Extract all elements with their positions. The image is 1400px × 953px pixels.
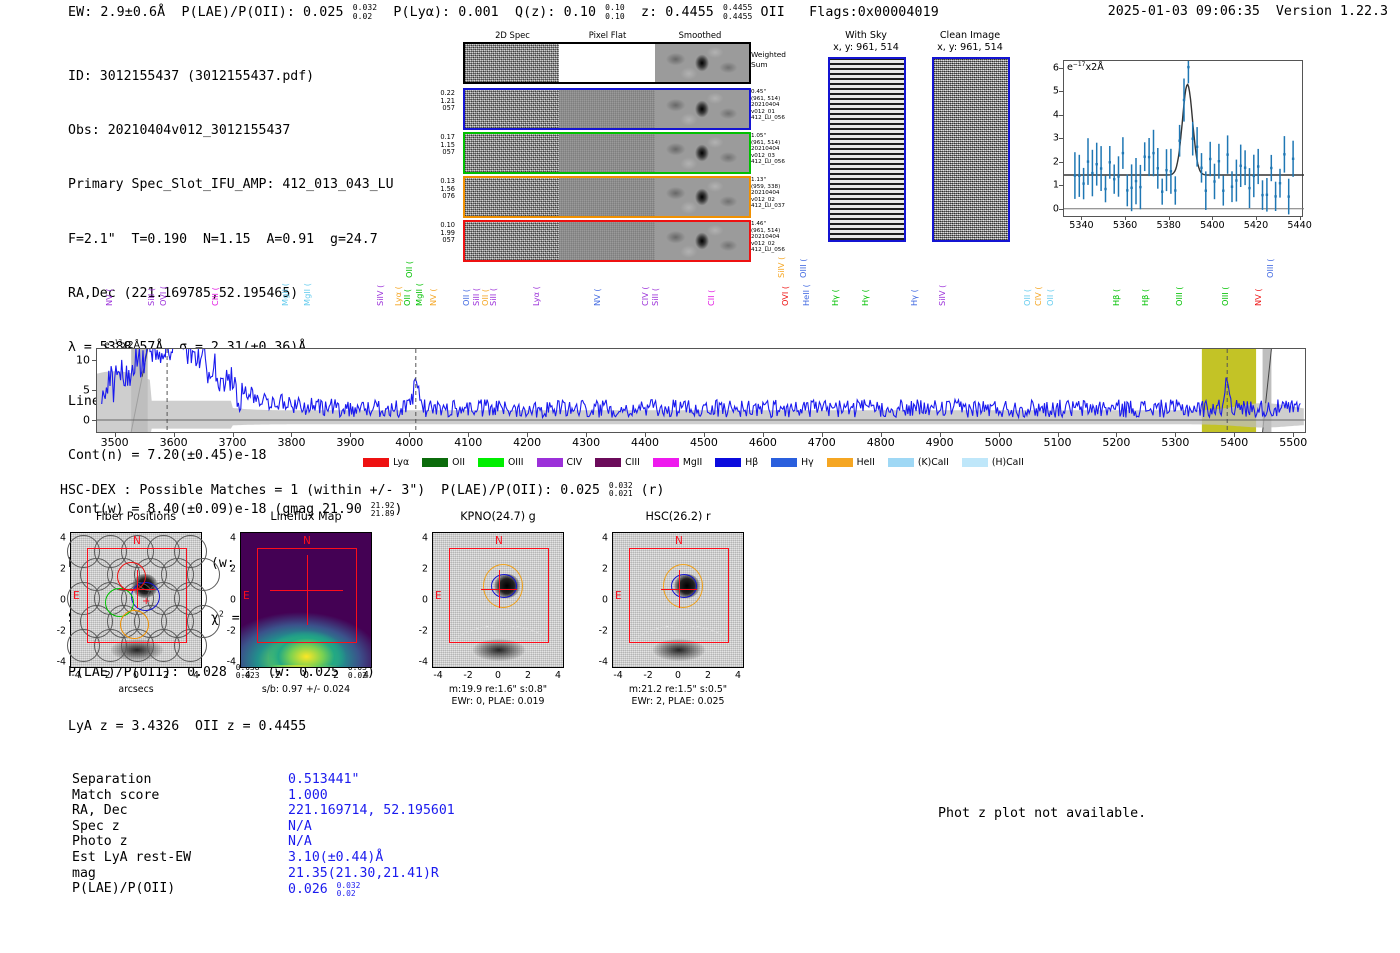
thumbnail-xtick: 2 <box>151 670 181 681</box>
thumbnail-xtick: 4 <box>723 670 753 681</box>
spec2d-strip <box>463 88 751 130</box>
spectrum-line-label: OII ( <box>404 261 414 278</box>
thumbnail-xtick: 4 <box>351 670 381 681</box>
table-row-key: P(LAE)/P(OII) <box>72 881 175 897</box>
thumbnail-title: Fiber Positions <box>50 510 222 523</box>
thumbnail-xtick: -4 <box>423 670 453 681</box>
spec2d-strip <box>463 132 751 174</box>
east-label: E <box>243 590 250 602</box>
legend-swatch <box>962 458 988 467</box>
line-profile-ytick: 5 <box>1039 86 1059 97</box>
line-profile-ytick: 6 <box>1039 63 1059 74</box>
thumbnail-ytick: 0 <box>590 595 608 606</box>
spectrum-xtick: 4300 <box>556 436 616 449</box>
legend-item: CIII <box>595 457 640 468</box>
spectrum-line-label: SiIV ( <box>375 285 385 306</box>
legend-label: Lyα <box>393 457 409 468</box>
line-profile-ytick: 2 <box>1039 156 1059 167</box>
thumbnail-xtick: 4 <box>181 670 211 681</box>
thumbnail-xtick: -2 <box>91 670 121 681</box>
spectrum-line-label: Hγ ( <box>860 289 870 306</box>
legend-label: Hβ <box>745 457 758 468</box>
thumbnail-row: Fiber Positions+NE-4-4-2-2002244arcsecsL… <box>0 510 800 740</box>
spectrum-xtick: 4700 <box>792 436 852 449</box>
spectrum-xtick: 3800 <box>261 436 321 449</box>
thumbnail-ytick: 4 <box>218 533 236 544</box>
spectrum-line-label: NV ( <box>592 288 602 306</box>
spectrum-line-label: MgII ( <box>414 283 424 306</box>
thumbnail-title: Lineflux Map <box>220 510 392 523</box>
line-profile-xtick: 5380 <box>1149 220 1189 231</box>
table-row-value: 0.513441" <box>288 772 359 788</box>
spec2d-strip <box>463 176 751 218</box>
thumbnail-title: KPNO(24.7) g <box>412 510 584 523</box>
line-profile-xtick: 5400 <box>1192 220 1232 231</box>
spectrum-xtick: 3500 <box>85 436 145 449</box>
east-label: E <box>615 590 622 602</box>
legend-item: (K)CaII <box>888 457 949 468</box>
table-row-value: N/A <box>288 834 312 850</box>
spec2d-col-title-pixelflat: Pixel Flat <box>560 30 655 40</box>
cutout-title-clean-image: Clean Imagex, y: 961, 514 <box>920 30 1020 54</box>
legend-swatch <box>827 458 853 467</box>
spectrum-ylabel: e−17x2Å <box>104 340 140 351</box>
legend-label: Hγ <box>801 457 814 468</box>
spectrum-line-label: NV ( <box>1253 288 1263 306</box>
table-row-key: Match score <box>72 788 159 804</box>
legend-label: (H)CaII <box>992 457 1024 468</box>
thumbnail-title: HSC(26.2) r <box>592 510 764 523</box>
legend-swatch <box>537 458 563 467</box>
spectrum-xtick: 5200 <box>1086 436 1146 449</box>
thumbnail-image: NE <box>612 532 744 668</box>
spectrum-legend: Lyα OII OIII CIV CIII MgII Hβ Hγ <box>0 452 1400 471</box>
thumbnail-caption: m:21.2 re:1.5" s:0.5"EWr: 2, PLAE: 0.025 <box>578 684 778 709</box>
spec2d-strip-right-label: 0.45"(961, 514)20210404v012_01412_LU_056 <box>751 89 799 122</box>
thumbnail-xtick: 2 <box>321 670 351 681</box>
spectrum-xtick: 4000 <box>379 436 439 449</box>
spectrum-line-label: OII ( <box>402 289 412 306</box>
north-label: N <box>133 535 141 547</box>
thumbnail-xtick: 0 <box>121 670 151 681</box>
spec2d-weighted-sum-label: WeightedSum <box>751 50 799 69</box>
table-row-key: Photo z <box>72 834 128 850</box>
spec2d-strip-left-label: 0.171.15057 <box>421 134 455 157</box>
table-row-key: mag <box>72 866 96 882</box>
line-profile-data <box>1064 61 1304 217</box>
spectrum-xtick: 5300 <box>1145 436 1205 449</box>
spectrum-xtick: 5100 <box>1028 436 1088 449</box>
spectrum-line-label: OVI ( <box>158 286 168 306</box>
thumbnail-ytick: 0 <box>410 595 428 606</box>
spectrum-xtick: 4100 <box>438 436 498 449</box>
table-row-key: Spec z <box>72 819 120 835</box>
spectrum-xtick: 5400 <box>1204 436 1264 449</box>
line-profile-ytick: 0 <box>1039 203 1059 214</box>
thumbnail-caption: s/b: 0.97 +/- 0.024 <box>206 684 406 696</box>
spectrum-line-label: Hγ ( <box>830 289 840 306</box>
spectrum-line-label: OII ( <box>1045 289 1055 306</box>
table-row-key: Est LyA rest-EW <box>72 850 191 866</box>
table-row-value: 221.169714, 52.195601 <box>288 803 455 819</box>
table-row-value: N/A <box>288 819 312 835</box>
legend-item: HeII <box>827 457 875 468</box>
line-profile-plot: e−17x2Å 0123456534053605380540054205440 <box>1037 54 1305 239</box>
table-row-value: 0.026 0.0320.02 <box>288 881 360 898</box>
legend-item: Hγ <box>771 457 814 468</box>
photoz-note: Phot z plot not available. <box>938 806 1146 821</box>
legend-swatch <box>715 458 741 467</box>
spectrum-xtick: 4400 <box>615 436 675 449</box>
thumbnail-ytick: 2 <box>410 564 428 575</box>
legend-item: MgII <box>653 457 702 468</box>
thumbnail-xtick: -2 <box>453 670 483 681</box>
thumbnail-caption: m:19.9 re:1.6" s:0.8"EWr: 0, PLAE: 0.019 <box>398 684 598 709</box>
line-profile-xtick: 5360 <box>1105 220 1145 231</box>
spectrum-xtick: 4900 <box>910 436 970 449</box>
line-profile-ytick: 1 <box>1039 180 1059 191</box>
table-row-value: 3.10(±0.44)Å <box>288 850 383 866</box>
spectrum-line-label: OVI ( <box>780 286 790 306</box>
spec2d-weighted-sum-strip <box>463 42 751 84</box>
table-row-value: 21.35(21.30,21.41)R <box>288 866 439 882</box>
legend-swatch <box>363 458 389 467</box>
spectrum-line-label: OII ( <box>461 289 471 306</box>
north-label: N <box>675 535 683 547</box>
legend-label: CIII <box>625 457 640 468</box>
spectrum-line-label: SiII ( <box>146 288 156 306</box>
spectrum-line-label: OIII ( <box>1265 259 1275 279</box>
spectrum-curve <box>97 349 1305 432</box>
legend-label: (K)CaII <box>918 457 949 468</box>
thumbnail-image: NE <box>240 532 372 668</box>
ifu-footprint-box <box>629 548 729 643</box>
line-profile-ytick: 3 <box>1039 133 1059 144</box>
spectrum-line-label: SiII ( <box>488 288 498 306</box>
legend-label: OII <box>452 457 465 468</box>
thumbnail-xtick: 2 <box>513 670 543 681</box>
full-spectrum-plot <box>96 348 1306 433</box>
thumbnail-ytick: 4 <box>590 533 608 544</box>
info-seeing: F=2.1" T=0.190 N=1.15 A=0.91 g=24.7 <box>68 231 402 249</box>
spec2d-col-title-2dspec: 2D Spec <box>465 30 560 40</box>
spectrum-line-label: MgII ( <box>280 283 290 306</box>
east-label: E <box>435 590 442 602</box>
thumbnail-ytick: 2 <box>218 564 236 575</box>
thumbnail-ytick: 2 <box>48 564 66 575</box>
spectrum-line-label: OII ( <box>1022 289 1032 306</box>
spectrum-line-label: MgII ( <box>302 283 312 306</box>
thumbnail-ytick: -2 <box>590 626 608 637</box>
spec2d-panel: 2D Spec Pixel Flat Smoothed WeightedSum … <box>455 30 775 250</box>
spectrum-xtick: 3700 <box>203 436 263 449</box>
thumbnail-ytick: -4 <box>48 657 66 668</box>
thumbnail-image: NE <box>432 532 564 668</box>
spectrum-line-label: NV ( <box>428 288 438 306</box>
spec2d-strip-left-label: 0.101.99057 <box>421 222 455 245</box>
spec2d-strip <box>463 220 751 262</box>
spectrum-line-label: HeII ( <box>801 284 811 306</box>
legend-swatch <box>478 458 504 467</box>
header-timestamp-version: 2025-01-03 09:06:35 Version 1.22.3 <box>1108 4 1388 19</box>
info-primary-spec: Primary Spec_Slot_IFU_AMP: 412_013_043_L… <box>68 176 402 194</box>
spectrum-line-label: CIV ( <box>640 286 650 306</box>
thumbnail-xtick: -4 <box>603 670 633 681</box>
legend-label: CIV <box>567 457 583 468</box>
thumbnail-ytick: 4 <box>410 533 428 544</box>
spectrum-xtick: 5000 <box>969 436 1029 449</box>
spectrum-ytick: 5 <box>62 383 90 396</box>
legend-swatch <box>653 458 679 467</box>
thumbnail-xtick: 4 <box>543 670 573 681</box>
cutout-title-with-sky: With Skyx, y: 961, 514 <box>818 30 914 54</box>
ifu-footprint-box <box>257 548 357 643</box>
spectrum-line-label: Lyα ( <box>531 286 541 306</box>
legend-swatch <box>771 458 797 467</box>
spectrum-line-labels: NV (SiII (OVI (CIII (MgII (MgII (SiIV (L… <box>0 278 1400 350</box>
line-profile-ytick: 4 <box>1039 109 1059 120</box>
legend-item: OII <box>422 457 465 468</box>
thumbnail-ytick: -4 <box>218 657 236 668</box>
spectrum-line-label: CII ( <box>706 290 716 306</box>
spectrum-line-label: Hγ ( <box>909 289 919 306</box>
spectrum-line-label: OIII ( <box>1220 287 1230 307</box>
thumbnail-xtick: 0 <box>291 670 321 681</box>
spectrum-line-label: OIII ( <box>798 259 808 279</box>
spectrum-xtick: 3600 <box>144 436 204 449</box>
legend-label: HeII <box>857 457 875 468</box>
spectrum-xtick: 5500 <box>1263 436 1323 449</box>
spectrum-line-label: CIII ( <box>210 287 220 306</box>
north-label: N <box>303 535 311 547</box>
spectrum-line-label: SiIV ( <box>937 285 947 306</box>
thumbnail-ytick: 2 <box>590 564 608 575</box>
thumbnail-ytick: -2 <box>48 626 66 637</box>
cutout-image-with-sky <box>828 57 906 242</box>
spec2d-strip-right-label: 1.13"(959, 338)20210404v012_02412_LU_037 <box>751 177 799 210</box>
legend-item: Hβ <box>715 457 758 468</box>
spectrum-line-label: CIV ( <box>1033 286 1043 306</box>
spec2d-strip-right-label: 1.05"(961, 514)20210404v012_03412_LU_056 <box>751 133 799 166</box>
legend-swatch <box>595 458 621 467</box>
spectrum-ytick: 10 <box>62 353 90 366</box>
spectrum-line-label: OIII ( <box>1174 287 1184 307</box>
spectrum-xtick: 4500 <box>674 436 734 449</box>
thumbnail-ytick: 0 <box>48 595 66 606</box>
legend-swatch <box>888 458 914 467</box>
spectrum-xtick: 4200 <box>497 436 557 449</box>
ifu-footprint-box <box>449 548 549 643</box>
spectrum-line-label: SiII ( <box>650 288 660 306</box>
line-profile-xtick: 5340 <box>1061 220 1101 231</box>
thumbnail-ytick: -4 <box>410 657 428 668</box>
thumbnail-xtick: -2 <box>633 670 663 681</box>
north-label: N <box>495 535 503 547</box>
spectrum-line-label: Hβ ( <box>1140 289 1150 306</box>
legend-label: MgII <box>683 457 702 468</box>
spectrum-xtick: 4800 <box>851 436 911 449</box>
spectrum-line-label: NV ( <box>104 288 114 306</box>
ifu-footprint-box <box>87 548 187 643</box>
spectrum-xtick: 4600 <box>733 436 793 449</box>
thumbnail-ytick: -4 <box>590 657 608 668</box>
line-profile-xtick: 5420 <box>1236 220 1276 231</box>
spec2d-strip-left-label: 0.131.56076 <box>421 178 455 201</box>
thumbnail-xtick: 0 <box>483 670 513 681</box>
table-row-value: 1.000 <box>288 788 328 804</box>
thumbnail-ytick: -2 <box>410 626 428 637</box>
thumbnail-xtick: 0 <box>663 670 693 681</box>
line-profile-xtick: 5440 <box>1280 220 1320 231</box>
thumbnail-ytick: 4 <box>48 533 66 544</box>
cutout-image-clean <box>932 57 1010 242</box>
table-row-key: RA, Dec <box>72 803 128 819</box>
spectrum-xtick: 3900 <box>320 436 380 449</box>
legend-item: (H)CaII <box>962 457 1024 468</box>
legend-item: CIV <box>537 457 583 468</box>
thumbnail-xtick: -2 <box>261 670 291 681</box>
thumbnail-image: +NE <box>70 532 202 668</box>
table-row-key: Separation <box>72 772 151 788</box>
thumbnail-xtick: 2 <box>693 670 723 681</box>
spectrum-line-label: Hβ ( <box>1111 289 1121 306</box>
thumbnail-ytick: -2 <box>218 626 236 637</box>
legend-item: Lyα <box>363 457 409 468</box>
thumbnail-xtick: -4 <box>231 670 261 681</box>
east-label: E <box>73 590 80 602</box>
info-id: ID: 3012155437 (3012155437.pdf) <box>68 68 402 86</box>
hscdex-summary: HSC-DEX : Possible Matches = 1 (within +… <box>60 482 664 498</box>
info-obs: Obs: 20210404v012_3012155437 <box>68 122 402 140</box>
thumbnail-xtick: -4 <box>61 670 91 681</box>
legend-item: OIII <box>478 457 524 468</box>
thumbnail-ytick: 0 <box>218 595 236 606</box>
spec2d-col-title-smoothed: Smoothed <box>655 30 745 40</box>
spectrum-line-label: SiIV ( <box>776 257 786 278</box>
spec2d-strip-left-label: 0.221.21057 <box>421 90 455 113</box>
spectrum-ytick: 0 <box>62 413 90 426</box>
spec2d-strip-right-label: 1.46"(961, 514)20210404v012_02412_LU_056 <box>751 221 799 254</box>
header-summary-line: EW: 2.9±0.6Å P(LAE)/P(OII): 0.025 0.0320… <box>68 4 939 20</box>
legend-swatch <box>422 458 448 467</box>
legend-label: OIII <box>508 457 524 468</box>
